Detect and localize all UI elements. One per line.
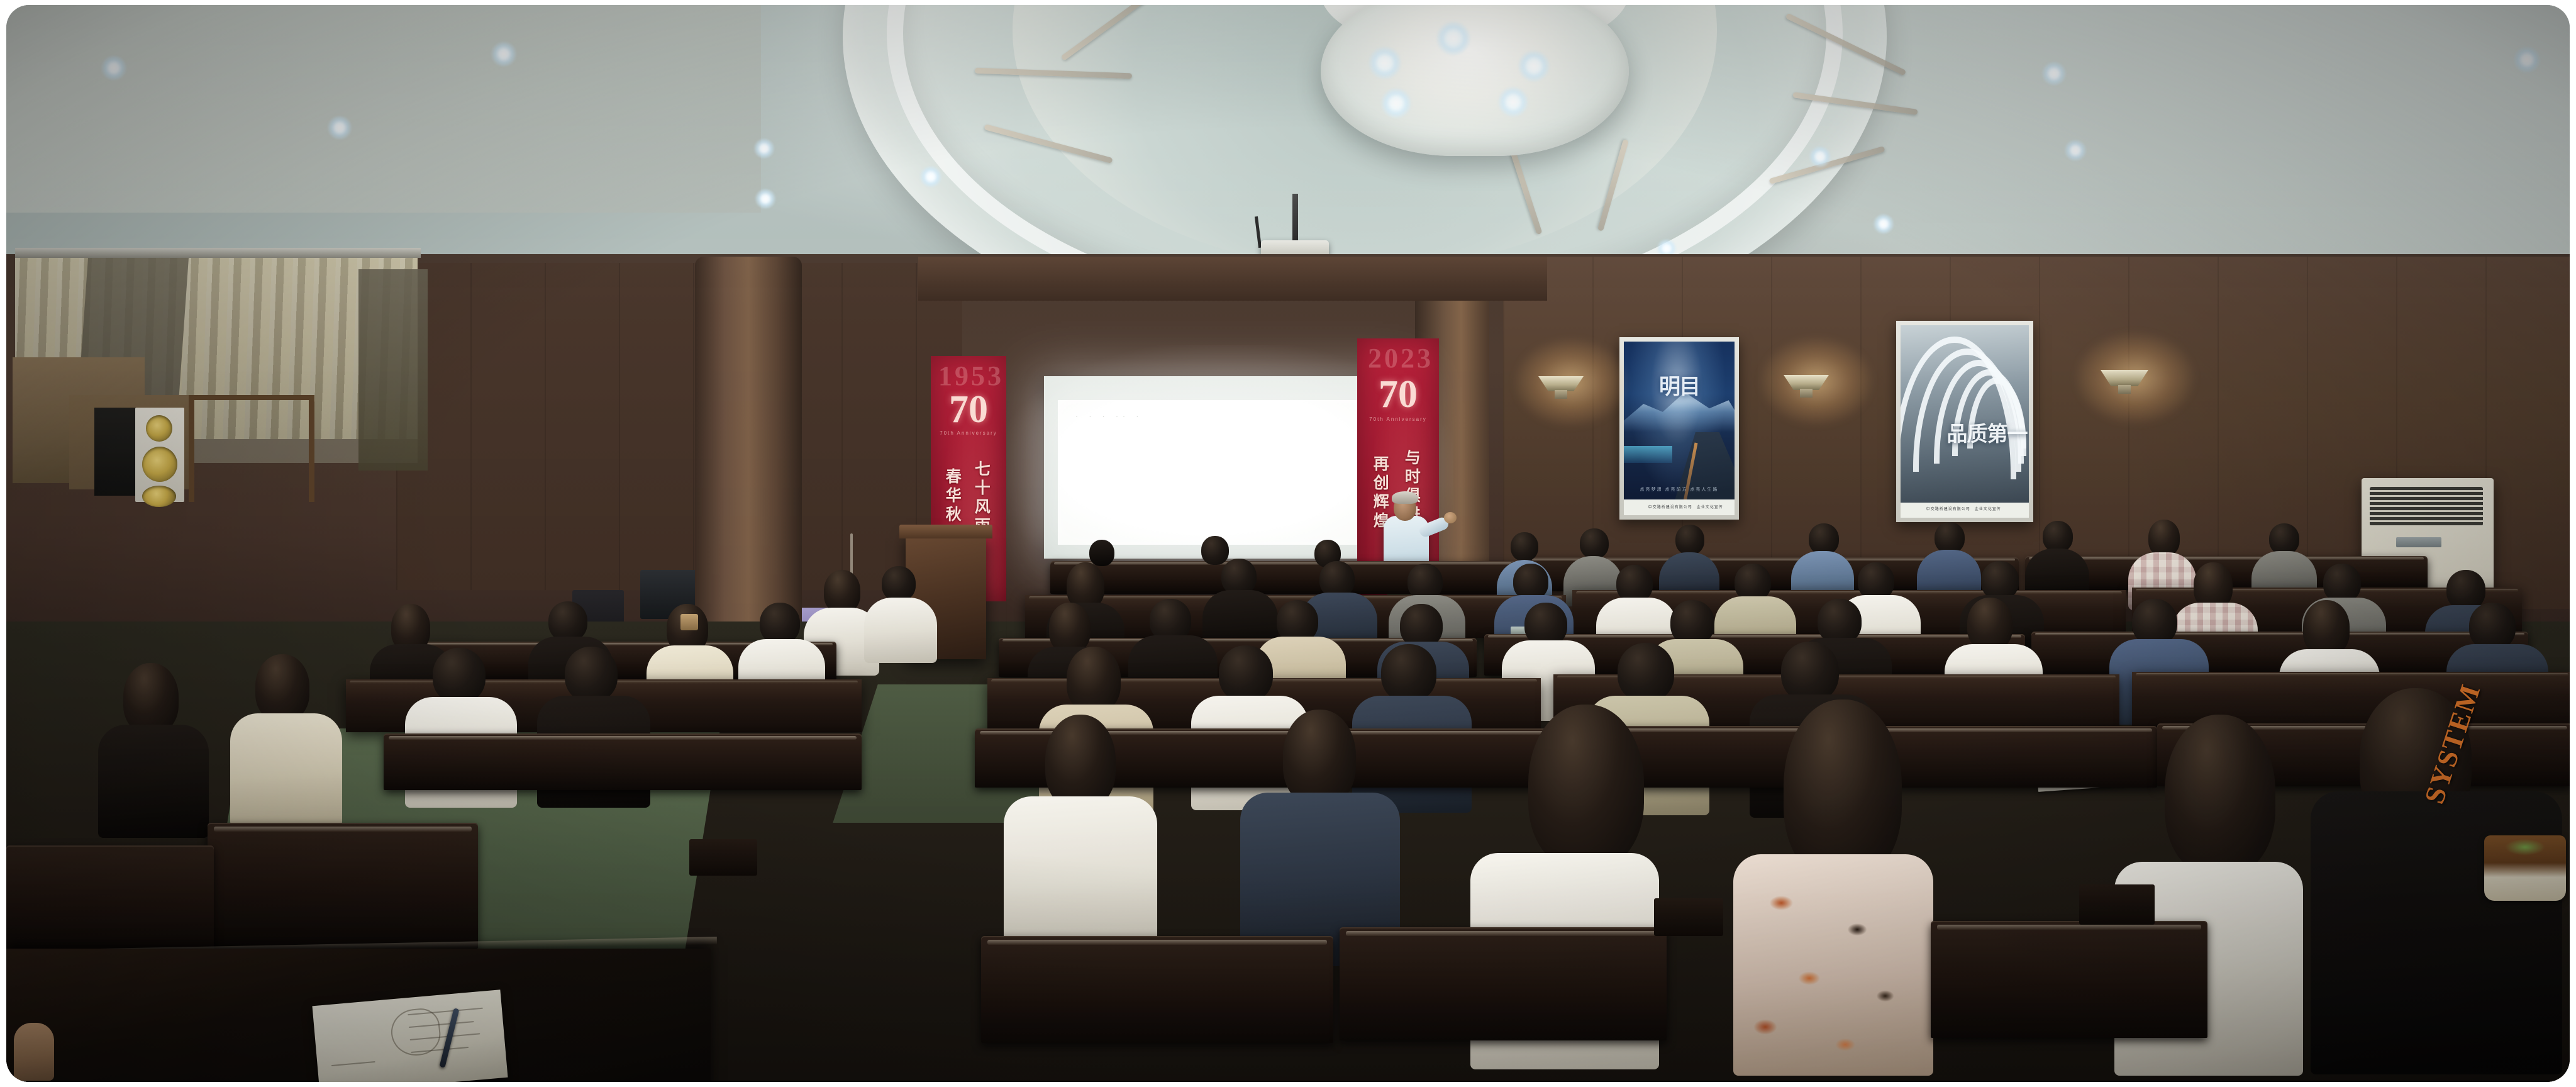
bench-highlight — [987, 940, 1327, 945]
attendee-head-foreground — [1045, 715, 1116, 809]
wall-poster-mountain-road: 明目 点亮梦想 点亮前方 点亮人生路 中交路桥建设有限公司 企业文化宣传 — [1619, 337, 1739, 520]
round-pillar — [695, 257, 802, 647]
attendee-head — [1049, 603, 1091, 653]
attendee-body — [98, 725, 209, 838]
attendee-head — [1067, 562, 1104, 609]
attendee-head — [255, 654, 309, 721]
attendee-head — [882, 566, 916, 601]
attendee-head — [1616, 565, 1653, 603]
bench-row-back — [1050, 561, 1516, 594]
poster-footer-text: 点亮梦想 点亮前方 点亮人生路 — [1624, 486, 1735, 493]
attendee-body — [864, 598, 937, 663]
wall-sconce-stem — [1555, 390, 1567, 399]
downlight-icon — [327, 116, 352, 140]
speaker-tweeter-icon — [146, 415, 172, 442]
attendee-head — [1618, 643, 1674, 702]
bench-bracket — [2079, 884, 2155, 925]
attendee-head — [1981, 561, 2019, 600]
attendee-head — [1511, 532, 1538, 561]
downlight-icon — [491, 42, 517, 67]
bench-highlight — [1346, 931, 1660, 936]
downlight-icon — [919, 166, 942, 187]
attendee-head — [1067, 647, 1121, 712]
bench-foreground — [981, 936, 1333, 1043]
poster-sea-graphic — [1624, 446, 1672, 464]
attendee-head — [1381, 644, 1436, 702]
bench-row-front — [384, 733, 862, 790]
attendee-head — [2469, 603, 2516, 650]
projector-mount-rod — [1292, 194, 1298, 243]
wall-poster-quality-first: 品质第一 中交路桥建设有限公司 企业文化宣传 — [1896, 321, 2033, 522]
banner-year: 1953 — [933, 362, 1009, 390]
wall-sconce-stem — [2118, 385, 2131, 394]
drum-bulb-icon — [1518, 50, 1550, 82]
bench-highlight — [214, 827, 472, 832]
attendee-jacket-system — [2311, 791, 2562, 1074]
downlight-icon — [2513, 47, 2541, 73]
downlight-icon — [2041, 62, 2067, 86]
speaker-woofer-icon — [142, 447, 177, 482]
downlight-icon — [755, 189, 776, 209]
ceiling-beam — [918, 257, 1547, 301]
screen-faint-text: · · · ·· · — [1075, 411, 1214, 421]
jacket-food-graphic — [2484, 835, 2566, 901]
bench-highlight — [1937, 925, 2201, 930]
poster-bottom-strip: 中交路桥建设有限公司 企业文化宣传 — [1901, 503, 2029, 518]
attendee-head — [2043, 521, 2073, 552]
desk-edge-highlight — [1576, 591, 2122, 594]
attendee-head — [2323, 564, 2361, 603]
bench-bracket — [1654, 898, 1723, 936]
projection-screen — [1058, 400, 1386, 545]
ceiling-drum-light — [1321, 5, 1629, 156]
attendee-head — [1219, 645, 1273, 702]
presenter-hand — [1444, 512, 1457, 523]
air-conditioner-vent — [2370, 487, 2483, 526]
drum-bulb-icon — [1381, 88, 1411, 118]
bench-bracket — [689, 839, 757, 876]
attendee-head — [548, 601, 587, 642]
bench-foreground-left — [208, 823, 478, 949]
attendee-head — [2446, 570, 2485, 610]
desk-edge-highlight — [1029, 596, 1562, 599]
attendee-head — [123, 663, 179, 733]
drum-bulb-icon — [1368, 47, 1401, 79]
hand-foreground — [14, 1023, 54, 1081]
attendee-head — [1781, 642, 1839, 702]
conference-hall-photo: · · · ·· · 1953 70 70th Anniversary 七十风雨… — [6, 5, 2570, 1082]
downlight-icon — [2064, 140, 2087, 161]
drum-bulb-icon — [1436, 21, 1470, 55]
bench-foreground — [1340, 927, 1667, 1040]
attendee-head — [1735, 564, 1771, 601]
attendee-head — [1675, 525, 1704, 555]
wall-sconce-stem — [1800, 389, 1813, 398]
attendee-head-foreground — [1283, 710, 1356, 805]
attendee-head-foreground — [1528, 705, 1644, 868]
banner-year: 2023 — [1360, 345, 1441, 372]
attendee-head — [1809, 523, 1839, 555]
downlight-icon — [753, 138, 775, 159]
attendee-head — [2148, 520, 2180, 556]
attendee-head — [824, 570, 860, 613]
attendee-head — [2269, 523, 2299, 555]
air-conditioner-display — [2396, 537, 2441, 547]
downlight-icon — [101, 55, 127, 81]
bench-highlight — [2035, 633, 2524, 635]
bench-highlight — [1054, 562, 1512, 565]
attendee-body — [230, 713, 342, 827]
attendee-head — [1935, 522, 1965, 554]
attendee-head — [1089, 540, 1114, 566]
lectern-top — [899, 525, 992, 538]
banner-logo-subtitle: 70th Anniversary — [931, 430, 1006, 436]
attendee-body-foreground — [1733, 854, 1933, 1076]
attendee-head — [433, 648, 486, 703]
banner-vertical-text-left: 再创辉煌 — [1371, 455, 1387, 531]
bench-highlight — [2029, 557, 2424, 560]
bench-foreground-left — [6, 845, 214, 959]
attendee-head — [2303, 600, 2350, 655]
banner-70-logo: 70 — [931, 390, 1006, 429]
poster-title: 明目 — [1624, 369, 1735, 400]
curtain-rail — [15, 248, 421, 258]
attendee-head-foreground — [1784, 700, 1902, 879]
metal-rack — [189, 395, 314, 502]
poster-strip-text: 中交路桥建设有限公司 企业文化宣传 — [1648, 504, 1723, 510]
poster-strip-text: 中交路桥建设有限公司 企业文化宣传 — [1926, 506, 2001, 511]
loudspeaker-cabinet — [94, 408, 138, 496]
drum-bulb-icon — [1498, 87, 1528, 117]
banner-70-logo: 70 — [1357, 375, 1439, 414]
window-curtain-fold — [358, 269, 428, 471]
attendee-head — [760, 603, 800, 644]
poster-bottom-strip: 中交路桥建设有限公司 企业文化宣传 — [1624, 499, 1735, 515]
bench-highlight — [389, 736, 857, 740]
attendee-head — [1201, 536, 1229, 565]
attendee-head — [1967, 598, 2012, 650]
downlight-icon — [1873, 214, 1894, 234]
poster-title: 品质第一 — [1946, 425, 2027, 445]
attendee-head — [2132, 599, 2177, 645]
bench-foreground — [1931, 921, 2207, 1038]
ceiling-flat-left — [6, 5, 761, 213]
presenter-hair — [1392, 491, 1418, 504]
attendee-head — [1858, 562, 1894, 600]
hair-clip-icon — [680, 614, 698, 630]
banner-logo-subtitle: 70th Anniversary — [1357, 416, 1439, 422]
attendee-head-foreground — [2165, 715, 2275, 874]
attendee-head — [2194, 562, 2233, 609]
wood-wall-panel-left — [396, 263, 962, 590]
downlight-icon — [1809, 146, 1831, 167]
desk-edge-highlight — [2136, 673, 2568, 676]
attendee-head — [565, 647, 618, 702]
speaker-woofer-icon — [142, 486, 176, 507]
attendee-head — [1580, 528, 1609, 559]
bench-highlight — [1488, 635, 2021, 638]
